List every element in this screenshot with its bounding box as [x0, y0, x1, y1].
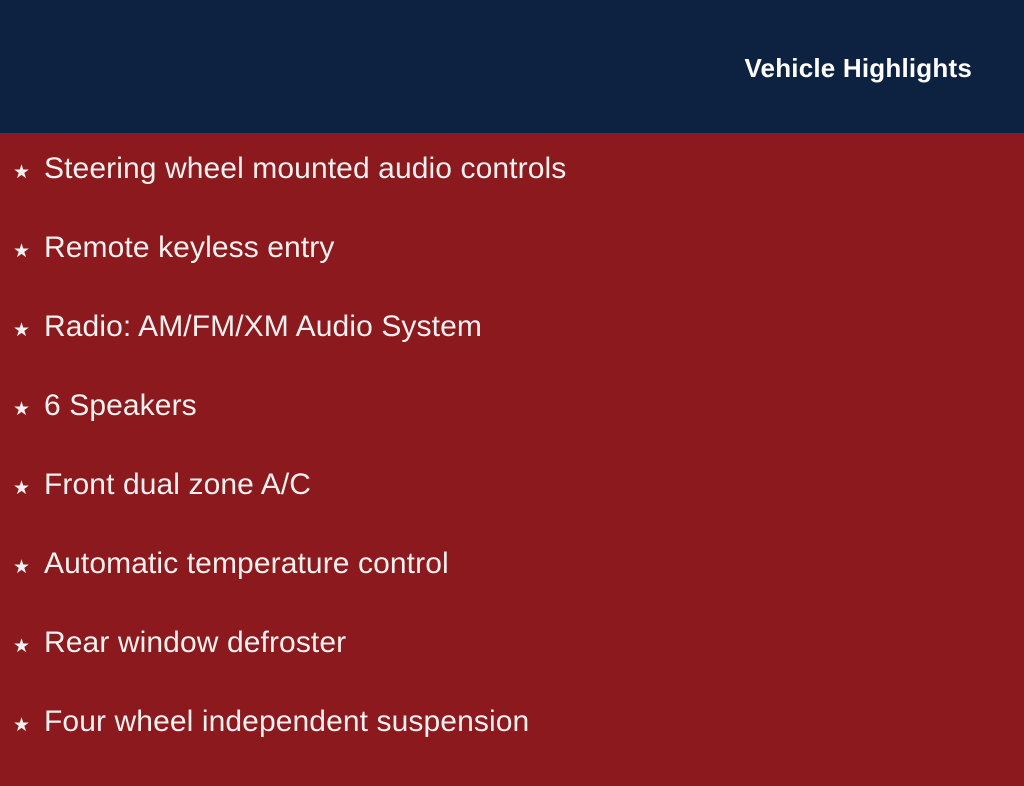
star-icon: ★	[13, 321, 44, 340]
list-item-label: Automatic temperature control	[44, 549, 449, 579]
list-item: ★ Steering wheel mounted audio controls	[0, 154, 1024, 233]
star-icon: ★	[13, 400, 44, 419]
list-item: ★ Radio: AM/FM/XM Audio System	[0, 312, 1024, 391]
vehicle-highlights-list: ★ Steering wheel mounted audio controls …	[0, 154, 1024, 786]
list-item: ★ Four wheel independent suspension	[0, 707, 1024, 786]
list-item: ★ 6 Speakers	[0, 391, 1024, 470]
list-item-label: Steering wheel mounted audio controls	[44, 154, 566, 184]
star-icon: ★	[13, 163, 44, 182]
list-item-label: Rear window defroster	[44, 628, 346, 658]
list-item-label: Radio: AM/FM/XM Audio System	[44, 312, 482, 342]
list-item: ★ Automatic temperature control	[0, 549, 1024, 628]
slide: Vehicle Highlights ★ Steering wheel moun…	[0, 0, 1024, 768]
list-item-label: 6 Speakers	[44, 391, 197, 421]
star-icon: ★	[13, 558, 44, 577]
page-title: Vehicle Highlights	[744, 55, 972, 81]
star-icon: ★	[13, 637, 44, 656]
star-icon: ★	[13, 242, 44, 261]
slide-body: ★ Steering wheel mounted audio controls …	[0, 133, 1024, 768]
star-icon: ★	[13, 479, 44, 498]
list-item: ★ Remote keyless entry	[0, 233, 1024, 312]
list-item-label: Remote keyless entry	[44, 233, 334, 263]
list-item-label: Front dual zone A/C	[44, 470, 311, 500]
slide-header: Vehicle Highlights	[0, 0, 1024, 133]
list-item: ★ Rear window defroster	[0, 628, 1024, 707]
list-item: ★ Front dual zone A/C	[0, 470, 1024, 549]
star-icon: ★	[13, 716, 44, 735]
list-item-label: Four wheel independent suspension	[44, 707, 529, 737]
